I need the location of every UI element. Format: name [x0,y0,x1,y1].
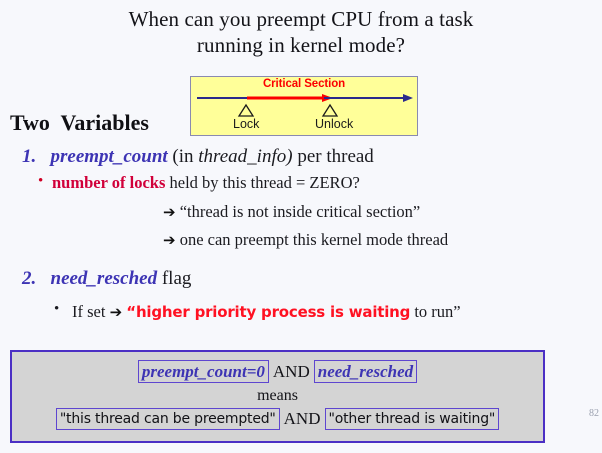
bullet-emphasis: number of locks [52,173,165,192]
list-item-2-tail: flag [157,268,191,289]
list-item-2: 2. need_resched flag [22,268,191,290]
list-item-2-number: 2. [22,268,36,289]
bullet-quote-suffix: to run” [410,302,460,321]
bullet-dot-icon: • [54,301,59,318]
section-heading: Two Variables [10,110,149,136]
list-item-2-keyword: need_resched [51,268,158,289]
term-preempt-count: preempt_count=0 [138,360,269,383]
arrow-row-2-text: one can preempt this kernel mode thread [180,230,448,249]
slide-canvas: When can you preempt CPU from a task run… [0,0,602,453]
summary-condition-row: preempt_count=0ANDneed_resched [12,360,543,383]
arrow-right-icon: ➔ [110,303,123,321]
arrow-right-icon: ➔ [163,203,176,221]
term-other-thread-waiting: "other thread is waiting" [325,408,500,430]
summary-and-1: AND [269,362,314,382]
bullet-number-of-locks: • number of locks held by this thread = … [52,173,360,193]
arrow-row-1-text: “thread is not inside critical section” [180,202,421,221]
page-title: When can you preempt CPU from a task run… [60,6,542,58]
bullet-red-quote: “higher priority process is waiting [126,303,410,321]
summary-and-2: AND [280,409,325,429]
term-thread-preempted: "this thread can be preempted" [56,408,280,430]
bullet-dot-icon: • [38,173,43,190]
lock-label: Lock [233,117,259,131]
list-item-1: 1. preempt_count (in thread_info) per th… [22,146,374,168]
bullet-need-resched: • If set ➔ “higher priority process is w… [72,302,461,322]
arrow-right-icon: ➔ [163,231,176,249]
critical-section-diagram: Critical Section Lock Unlock [190,76,418,136]
bullet-if-set: If set [72,302,110,321]
summary-meaning-row: "this thread can be preempted"AND"other … [12,408,543,430]
summary-box: preempt_count=0ANDneed_resched means "th… [10,350,545,443]
list-item-1-keyword: preempt_count [51,146,168,167]
title-line-1: When can you preempt CPU from a task [60,6,542,32]
title-line-2: running in kernel mode? [60,32,542,58]
list-item-1-paren-prefix: (in [168,146,199,167]
page-number: 82 [589,408,599,419]
unlock-label: Unlock [315,117,353,131]
list-item-1-number: 1. [22,146,36,167]
timeline-axis-svg [191,77,419,137]
term-need-resched: need_resched [314,360,417,383]
arrow-row-2: ➔ one can preempt this kernel mode threa… [163,230,448,250]
bullet-rest: held by this thread = ZERO? [165,173,359,192]
list-item-1-tail: per thread [293,146,374,167]
summary-means-label: means [12,387,543,405]
list-item-1-paren-italic: thread_info [198,146,286,167]
arrow-row-1: ➔ “thread is not inside critical section… [163,202,420,222]
